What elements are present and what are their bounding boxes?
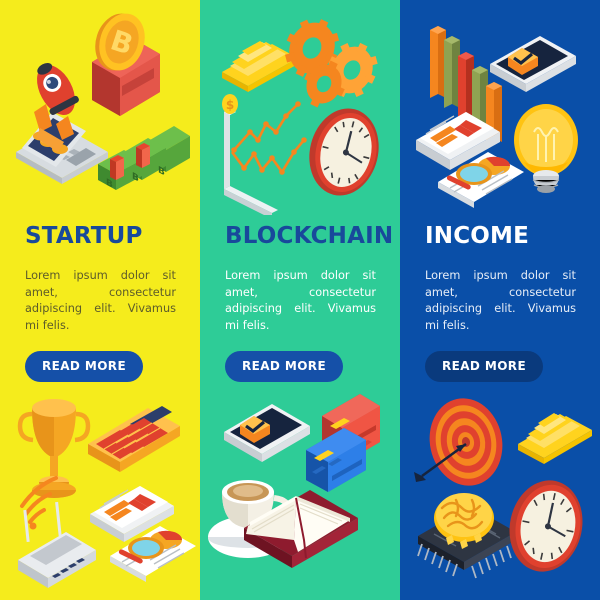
wall-clock-icon [501, 474, 591, 579]
gold-bars-icon [518, 413, 592, 464]
lightbulb-icon [514, 104, 578, 193]
income-top-illustration [400, 0, 600, 215]
banner-panel-startup: B [0, 0, 200, 600]
read-more-button-startup[interactable]: READ MORE [25, 351, 143, 382]
blockchain-copy-block: BLOCKCHAIN Lorem ipsum dolor sit amet, c… [200, 215, 400, 380]
page-title-blockchain: BLOCKCHAIN [225, 225, 378, 248]
gold-bars-icon [222, 41, 298, 92]
page-title-startup: STARTUP [25, 225, 178, 248]
startup-bottom-illustration [0, 380, 200, 600]
bitcoin-coin-wallet-icon: B [88, 8, 160, 116]
dartboard-arrow-icon [414, 391, 510, 492]
smartphone-shield-icon [490, 36, 576, 92]
svg-text:$: $ [226, 98, 234, 112]
blockchain-bottom-illustration [200, 380, 400, 600]
credit-cards-icon [306, 394, 380, 492]
body-text-startup: Lorem ipsum dolor sit amet, consectetur … [25, 268, 176, 334]
startup-copy-block: STARTUP Lorem ipsum dolor sit amet, cons… [0, 215, 200, 380]
body-text-blockchain: Lorem ipsum dolor sit amet, consectetur … [225, 268, 376, 334]
dollar-growth-chart-icon: $ [222, 94, 307, 215]
smartphone-shield-icon [224, 404, 310, 462]
blockchain-top-illustration: $ [200, 0, 400, 215]
income-bottom-illustration [400, 380, 600, 600]
brain-chip-icon [418, 493, 516, 578]
income-copy-block: INCOME Lorem ipsum dolor sit amet, conse… [400, 215, 600, 380]
money-stacks-icon: B B B [98, 126, 190, 191]
wall-clock-icon [300, 101, 387, 203]
gears-icon [276, 10, 386, 115]
isometric-banner-set: B [0, 0, 600, 600]
page-title-income: INCOME [425, 225, 578, 248]
report-documents-magnifier-icon [90, 486, 196, 582]
read-more-button-income[interactable]: READ MORE [425, 351, 543, 382]
body-text-income: Lorem ipsum dolor sit amet, consectetur … [425, 268, 576, 334]
read-more-button-blockchain[interactable]: READ MORE [225, 351, 343, 382]
calculator-icon [88, 406, 180, 472]
banner-panel-income: INCOME Lorem ipsum dolor sit amet, conse… [400, 0, 600, 600]
banner-panel-blockchain: $ [200, 0, 400, 600]
report-documents-magnifier-icon [416, 112, 524, 208]
startup-top-illustration: B [0, 0, 200, 215]
trophy-icon [20, 399, 88, 498]
